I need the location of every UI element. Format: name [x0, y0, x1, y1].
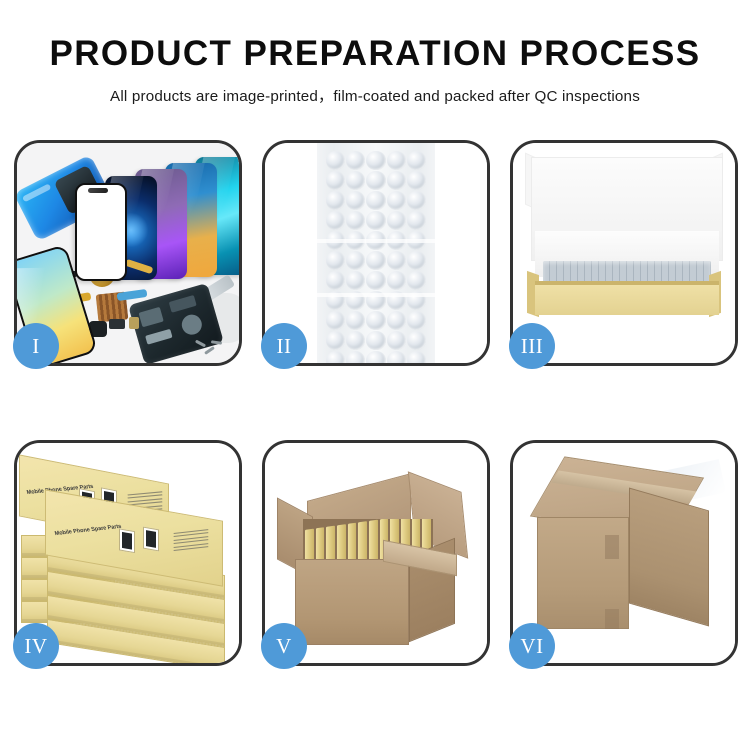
carton-seam-lower [605, 609, 619, 629]
infographic-page: PRODUCT PREPARATION PROCESS All products… [0, 0, 750, 750]
box-front-panel [535, 285, 719, 315]
step-panel-4: Mobile Phone Spare Parts Mobile Phone Sp… [14, 440, 242, 666]
page-title: PRODUCT PREPARATION PROCESS [0, 36, 750, 73]
vibrator-motor-icon [109, 319, 125, 329]
step-panel-3: III [510, 140, 738, 366]
sealed-carton-side [629, 488, 709, 627]
step-badge-1: I [13, 323, 59, 369]
button-part-icon [129, 317, 139, 329]
step-badge-4: IV [13, 623, 59, 669]
phone-fan [75, 157, 239, 277]
step-badge-5: V [261, 623, 307, 669]
carton-seam-upper [605, 535, 619, 559]
step-panel-2: II [262, 140, 490, 366]
step-badge-6: VI [509, 623, 555, 669]
step-badge-2: II [261, 323, 307, 369]
header: PRODUCT PREPARATION PROCESS All products… [0, 0, 750, 106]
step-badge-3: III [509, 323, 555, 369]
flex-cable-icon-3 [117, 289, 148, 301]
wrap-seam-upper [317, 239, 435, 243]
phone-white-bezel [75, 183, 127, 281]
carton-front [295, 559, 409, 645]
wrap-seam-lower [317, 293, 435, 297]
step-panel-6: VI [510, 440, 738, 666]
page-subtitle: All products are image-printed，film-coat… [0, 84, 750, 106]
process-steps-grid: I [14, 140, 738, 666]
screws-icon [195, 339, 225, 357]
bubble-wrap-grid [324, 149, 428, 363]
step-panel-1: I [14, 140, 242, 366]
step-panel-5: V [262, 440, 490, 666]
